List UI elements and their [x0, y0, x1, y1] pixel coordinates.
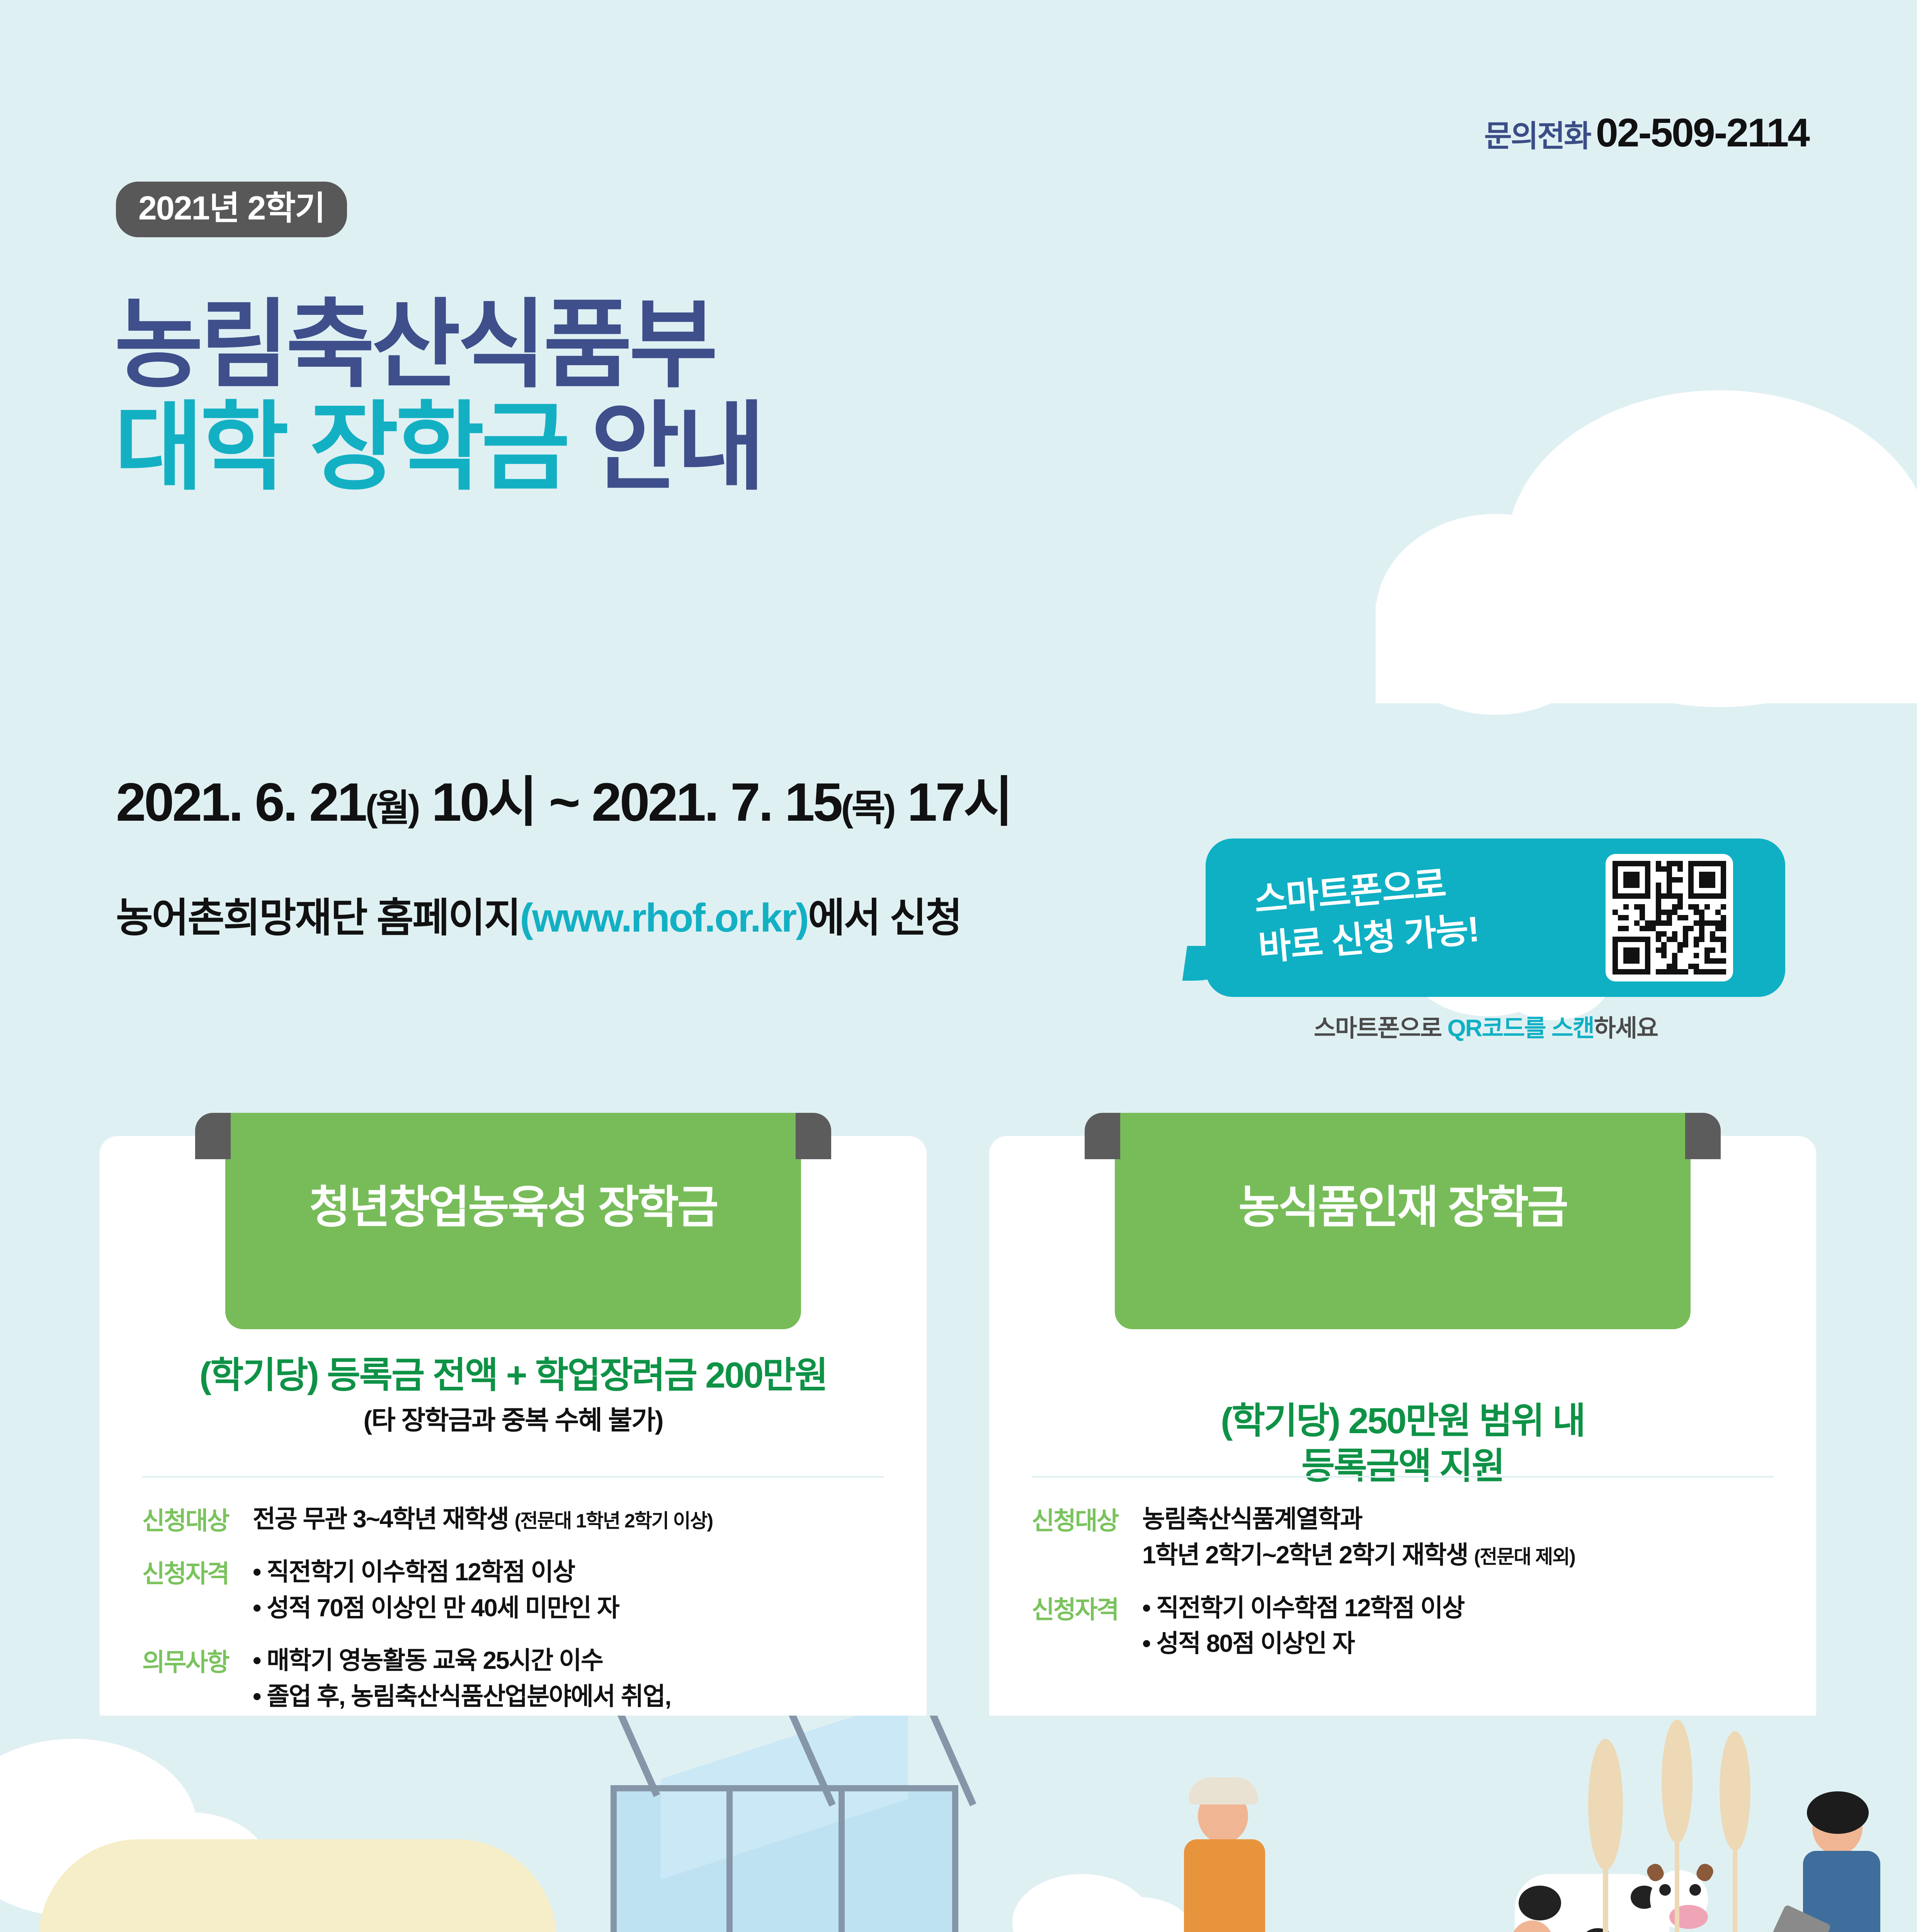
contact-phone: 문의전화 02-509-2114 — [1484, 110, 1809, 156]
row-text: • 성적 80점 이상인 자 — [1142, 1626, 1464, 1662]
scholarship-card-youth: 청년창업농육성 장학금 (학기당) 등록금 전액 + 학업장려금 200만원 (… — [100, 1136, 927, 1789]
row-body: 농림축산식품계열학과 1학년 2학기~2학년 2학기 재학생 (전문대 제외) — [1142, 1501, 1575, 1573]
table-row: 신청대상 전공 무관 3~4학년 재학생 (전문대 1학년 2학기 이상) — [142, 1501, 900, 1537]
row-body: 전공 무관 3~4학년 재학생 (전문대 1학년 2학기 이상) — [253, 1501, 713, 1537]
date-mid: 10시 ~ 2021. 7. 15 — [418, 772, 841, 832]
card-amount: (학기당) 250만원 범위 내 등록금액 지원 — [989, 1352, 1816, 1489]
greenhouse — [564, 1739, 1012, 1932]
table-row: 신청자격 • 직전학기 이수학점 12학점 이상 • 성적 80점 이상인 자 — [1032, 1590, 1789, 1662]
site-url[interactable]: (www.rhof.or.kr) — [520, 896, 808, 940]
market-tent — [39, 1839, 556, 1932]
straw-hat — [1189, 1777, 1258, 1804]
title-teal-part: 대학 장학금 — [114, 393, 567, 501]
scholarship-card-talent: 농식품인재 장학금 (학기당) 250만원 범위 내 등록금액 지원 신청대상 … — [989, 1136, 1816, 1789]
date-end-time: 17시 — [894, 772, 1011, 832]
card-divider — [1032, 1476, 1774, 1478]
person-feeding-pigs — [1785, 1785, 1901, 1932]
title-navy-part: 안내 — [591, 393, 762, 501]
row-label: 신청자격 — [142, 1554, 239, 1626]
poplar-tree-3 — [1720, 1731, 1750, 1932]
qr-caption-before: 스마트폰으로 — [1314, 1015, 1447, 1042]
date-start-day: (월) — [366, 787, 418, 829]
qr-caption-highlight: QR코드를 스캔 — [1447, 1015, 1594, 1042]
ribbon-tab-left — [195, 1113, 231, 1159]
row-text: • 직전학기 이수학점 12학점 이상 — [1142, 1590, 1464, 1626]
farm-illustration: 농림축산식품부 HOPE KRA와 함께하는 — [0, 1716, 1917, 1932]
cloud-top-right-base — [1376, 603, 1917, 703]
page-title: 농림축산식품부 대학 장학금 안내 — [114, 294, 762, 498]
title-line-1: 농림축산식품부 — [114, 294, 762, 396]
row-label: 신청대상 — [142, 1501, 239, 1537]
card-title: 청년창업농육성 장학금 — [309, 1171, 717, 1236]
site-prefix: 농어촌희망재단 홈페이지 — [116, 896, 520, 940]
row-text: • 직전학기 이수학점 12학점 이상 — [253, 1554, 619, 1590]
date-end-day: (목) — [841, 787, 894, 829]
title-line-2: 대학 장학금 안내 — [114, 396, 762, 498]
poplar-tree-1 — [1588, 1739, 1623, 1932]
qr-caption: 스마트폰으로 QR코드를 스캔하세요 — [1314, 1009, 1658, 1043]
row-note: (전문대 제외) — [1474, 1546, 1575, 1568]
card-ribbon-banner: 농식품인재 장학금 — [1115, 1113, 1691, 1329]
ribbon-tab-right — [796, 1113, 831, 1159]
row-text: 1학년 2학기~2학년 2학기 재학생 — [1142, 1541, 1474, 1569]
date-start: 2021. 6. 21 — [116, 772, 366, 832]
card-detail-rows: 신청대상 농림축산식품계열학과 1학년 2학기~2학년 2학기 재학생 (전문대… — [1032, 1501, 1789, 1679]
row-text: • 성적 70점 이상인 만 40세 미만인 자 — [253, 1590, 619, 1626]
row-text: 농림축산식품계열학과 — [1142, 1501, 1575, 1537]
row-body: • 직전학기 이수학점 12학점 이상 • 성적 70점 이상인 만 40세 미… — [253, 1554, 619, 1626]
poster-root: 2021년 2학기 문의전화 02-509-2114 농림축산식품부 대학 장학… — [0, 0, 1917, 1932]
ribbon-tab-left — [1085, 1113, 1120, 1159]
row-text: • 매학기 영농활동 교육 25시간 이수 — [253, 1643, 671, 1679]
poplar-tree-2 — [1662, 1719, 1692, 1932]
card-amount-main: (학기당) 250만원 범위 내 등록금액 지원 — [1221, 1400, 1585, 1486]
qr-code[interactable] — [1606, 854, 1733, 981]
card-amount-main: (학기당) 등록금 전액 + 학업장려금 200만원 — [199, 1355, 827, 1395]
table-row: 신청자격 • 직전학기 이수학점 12학점 이상 • 성적 70점 이상인 만 … — [142, 1554, 900, 1626]
semester-badge: 2021년 2학기 — [116, 182, 347, 237]
application-site: 농어촌희망재단 홈페이지(www.rhof.or.kr)에서 신청 — [116, 885, 961, 943]
person-milking — [1484, 1920, 1588, 1932]
site-suffix: 에서 신청 — [808, 896, 961, 940]
phone-number: 02-509-2114 — [1596, 110, 1809, 156]
row-body: • 직전학기 이수학점 12학점 이상 • 성적 80점 이상인 자 — [1142, 1590, 1464, 1662]
row-label: 신청자격 — [1032, 1590, 1128, 1662]
qr-caption-after: 하세요 — [1594, 1015, 1658, 1042]
card-divider — [142, 1476, 884, 1478]
ribbon-tab-right — [1685, 1113, 1721, 1159]
card-amount: (학기당) 등록금 전액 + 학업장려금 200만원 (타 장학금과 중복 수혜… — [100, 1352, 927, 1437]
row-text: • 졸업 후, 농림축산식품산업분야에서 취업, — [253, 1679, 671, 1714]
phone-label: 문의전화 — [1484, 112, 1590, 155]
person-feeding-chickens — [1167, 1774, 1283, 1932]
row-text: 전공 무관 3~4학년 재학생 — [253, 1505, 515, 1533]
application-period: 2021. 6. 21(월) 10시 ~ 2021. 7. 15(목) 17시 — [116, 759, 1011, 837]
card-title: 농식품인재 장학금 — [1238, 1171, 1567, 1236]
card-amount-note: (타 장학금과 중복 수혜 불가) — [100, 1404, 927, 1437]
table-row: 신청대상 농림축산식품계열학과 1학년 2학기~2학년 2학기 재학생 (전문대… — [1032, 1501, 1789, 1573]
tent-canopy — [39, 1839, 556, 1932]
row-note: (전문대 1학년 2학기 이상) — [515, 1510, 713, 1532]
row-label: 신청대상 — [1032, 1501, 1128, 1573]
card-ribbon-banner: 청년창업농육성 장학금 — [225, 1113, 801, 1329]
